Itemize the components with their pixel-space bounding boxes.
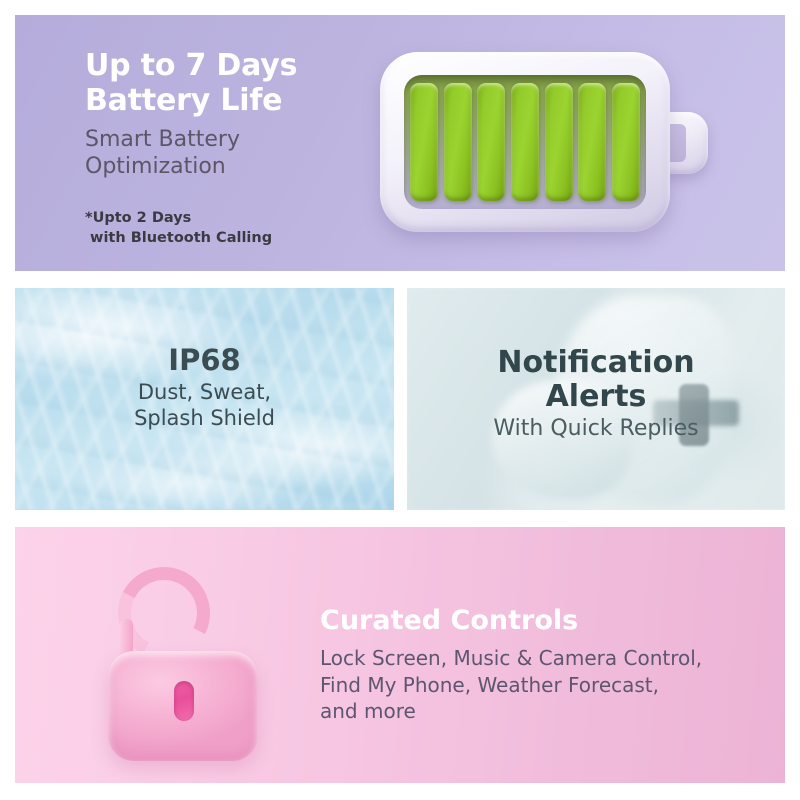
battery-subtitle-line1: Smart Battery xyxy=(85,126,385,154)
notification-title-line2: Alerts xyxy=(407,380,785,414)
notification-title-line1: Notification xyxy=(407,346,785,380)
battery-cells-container xyxy=(404,75,646,209)
curated-controls-description: Lock Screen, Music & Camera Control, Fin… xyxy=(320,645,770,725)
battery-cell-bar xyxy=(578,83,606,201)
battery-shell xyxy=(380,52,670,232)
battery-cell-bar xyxy=(511,83,539,201)
battery-footnote: *Upto 2 Days with Bluetooth Calling xyxy=(85,208,385,249)
battery-cell-bar xyxy=(545,83,573,201)
curated-controls-feature-card: Curated Controls Lock Screen, Music & Ca… xyxy=(15,527,785,783)
battery-icon xyxy=(370,42,750,247)
curated-controls-text-block: Curated Controls Lock Screen, Music & Ca… xyxy=(320,605,770,725)
battery-cell-bar xyxy=(444,83,472,201)
padlock-body xyxy=(108,651,258,761)
open-padlock-icon xyxy=(90,567,280,752)
battery-cell-bar xyxy=(410,83,438,201)
curated-controls-title: Curated Controls xyxy=(320,605,770,636)
battery-subtitle-line2: Optimization xyxy=(85,153,385,181)
battery-card-text-block: Up to 7 Days Battery Life Smart Battery … xyxy=(85,48,385,249)
ip68-subtitle-line2: Splash Shield xyxy=(15,405,394,431)
battery-cell-bar xyxy=(612,83,640,201)
notification-feature-card: Notification Alerts With Quick Replies xyxy=(407,288,785,510)
notification-text-block: Notification Alerts With Quick Replies xyxy=(407,346,785,443)
ip68-text-block: IP68 Dust, Sweat, Splash Shield xyxy=(15,345,394,432)
ip68-subtitle-line1: Dust, Sweat, xyxy=(15,379,394,405)
battery-title-line2: Battery Life xyxy=(85,83,385,118)
ip68-title: IP68 xyxy=(15,345,394,377)
battery-cell-bar xyxy=(477,83,505,201)
padlock-keyhole xyxy=(174,681,194,721)
notification-subtitle: With Quick Replies xyxy=(407,416,785,442)
feature-infographic: Up to 7 Days Battery Life Smart Battery … xyxy=(0,0,800,800)
ip68-feature-card: IP68 Dust, Sweat, Splash Shield xyxy=(15,288,394,510)
battery-feature-card: Up to 7 Days Battery Life Smart Battery … xyxy=(15,15,785,271)
battery-title-line1: Up to 7 Days xyxy=(85,48,385,83)
